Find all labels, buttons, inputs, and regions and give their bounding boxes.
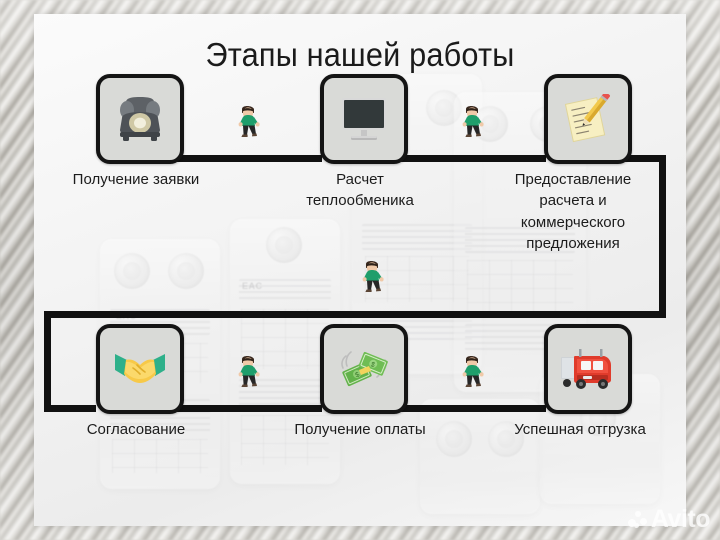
- step-6-caption: Успешная отгрузка: [474, 419, 686, 440]
- avito-watermark: Avito: [628, 507, 710, 532]
- walker-icon-1: [236, 104, 262, 138]
- step-5-icon-box[interactable]: $ $: [320, 324, 408, 414]
- slide-image: EAC EAC: [0, 0, 720, 540]
- step-2-caption: Расчет теплообменика: [250, 169, 470, 212]
- connector-left-into-step4: [44, 405, 96, 412]
- step-3-caption: Предоставление расчета и коммерческого п…: [479, 169, 667, 254]
- connector-step1-step2: [176, 155, 322, 162]
- avito-dots-logo-icon: [628, 511, 648, 529]
- walker-icon-2: [460, 104, 486, 138]
- telephone-icon: [114, 96, 166, 142]
- step-4-caption: Согласование: [34, 419, 246, 440]
- step-6-icon-box[interactable]: [544, 324, 632, 414]
- desktop-computer-icon: [339, 95, 389, 143]
- step-4-icon-box[interactable]: [96, 324, 184, 414]
- connector-step2-step3: [400, 155, 546, 162]
- memo-pencil-icon: [561, 94, 615, 144]
- walker-icon-3: [360, 259, 386, 293]
- connector-step4-step5: [176, 405, 322, 412]
- walker-icon-4: [236, 354, 262, 388]
- step-3-icon-box[interactable]: [544, 74, 632, 164]
- step-1-caption: Получение заявки: [34, 169, 246, 190]
- avito-wordmark: Avito: [651, 507, 710, 532]
- step-5-caption: Получение оплаты: [250, 419, 470, 440]
- step-1-icon-box[interactable]: [96, 74, 184, 164]
- slide-panel: EAC EAC: [34, 14, 686, 526]
- connector-loop-horizontal: [44, 311, 666, 318]
- connector-left-vertical: [44, 311, 51, 412]
- step-2-icon-box[interactable]: [320, 74, 408, 164]
- walker-icon-5: [460, 354, 486, 388]
- page-title: Этапы нашей работы: [57, 36, 663, 74]
- money-with-wings-icon: $ $: [337, 344, 391, 394]
- handshake-icon: [113, 350, 167, 388]
- connector-step5-step6: [400, 405, 546, 412]
- delivery-truck-icon: [559, 347, 617, 391]
